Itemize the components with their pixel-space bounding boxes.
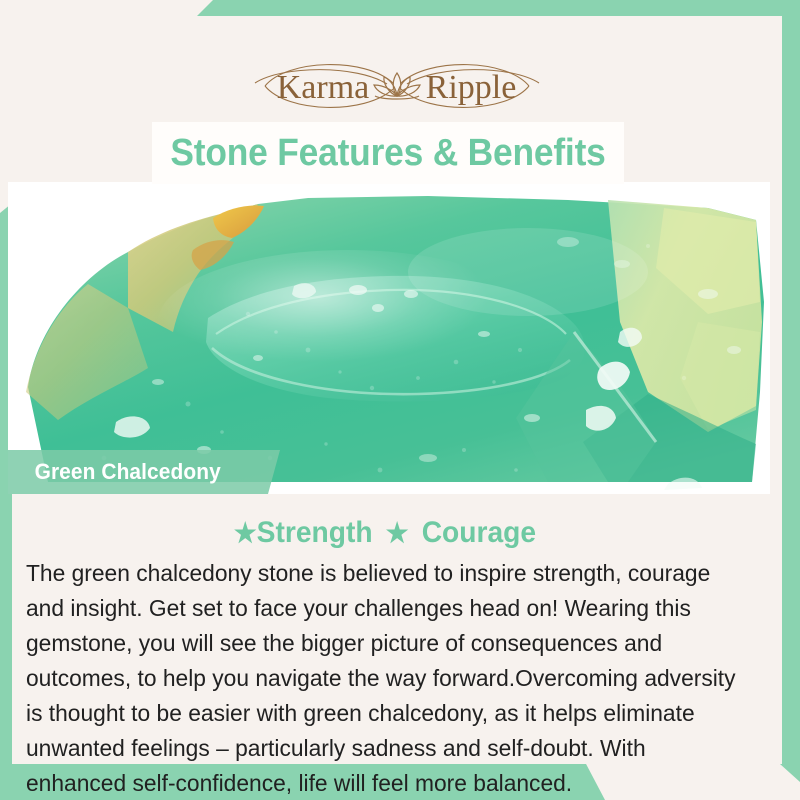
description-text: The green chalcedony stone is believed t… (26, 556, 738, 800)
stone-benefits-poster: Karma Ripple Stone Features & Benefits (0, 0, 800, 800)
brand-logo: Karma Ripple (12, 50, 782, 122)
lotus-infinity-icon: Karma Ripple (247, 53, 547, 119)
star-icon: ★ (234, 518, 257, 548)
keyword-courage: Courage (422, 516, 536, 549)
stone-image (8, 182, 770, 494)
keyword-line: ★Strength★Courage (23, 516, 747, 550)
title-banner: Stone Features & Benefits (152, 122, 624, 184)
page-title: Stone Features & Benefits (170, 132, 605, 175)
frame-right-accent (780, 0, 800, 782)
stone-label-band: Green Chalcedony (8, 450, 280, 494)
stone-name: Green Chalcedony (8, 459, 221, 485)
keyword-strength: Strength (257, 516, 373, 549)
star-icon: ★ (386, 518, 409, 548)
brand-name-right: Ripple (426, 69, 517, 106)
green-chalcedony-illustration (8, 182, 770, 494)
brand-name-left: Karma (277, 69, 370, 106)
